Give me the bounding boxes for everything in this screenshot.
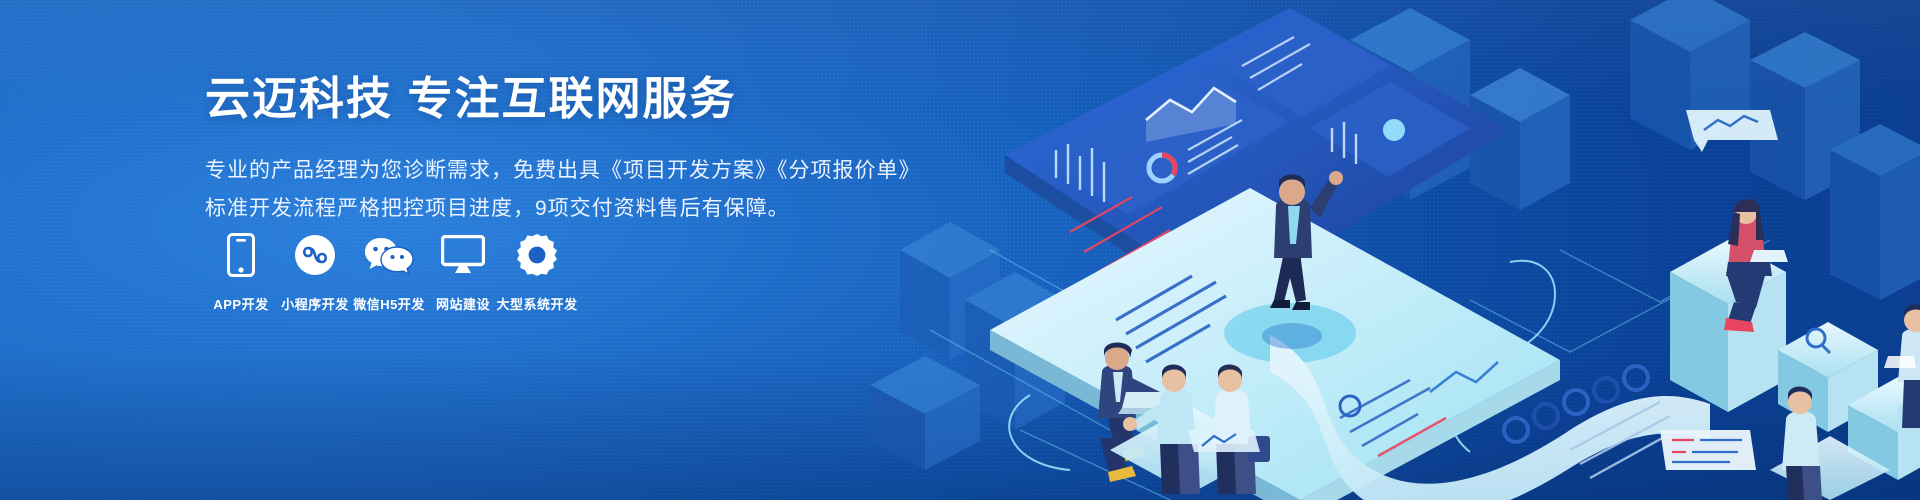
subtitle-line-1: 专业的产品经理为您诊断需求，免费出具《项目开发方案》《分项报价单》 xyxy=(205,152,925,190)
service-item-large-system[interactable]: 大型系统开发 xyxy=(501,232,573,313)
service-label: 网站建设 xyxy=(436,294,490,313)
service-label: 小程序开发 xyxy=(281,294,349,313)
hero-banner: 云迈科技 专注互联网服务 专业的产品经理为您诊断需求，免费出具《项目开发方案》《… xyxy=(0,0,1920,500)
service-label: 大型系统开发 xyxy=(497,294,578,313)
gear-icon xyxy=(516,232,558,278)
service-item-website[interactable]: 网站建设 xyxy=(427,232,499,313)
service-label: APP开发 xyxy=(213,294,268,313)
code-card xyxy=(1660,430,1756,470)
monitor-icon xyxy=(441,232,485,278)
service-item-miniprogram[interactable]: 小程序开发 xyxy=(279,232,351,313)
subtitle-line-2: 标准开发流程严格把控项目进度，9项交付资料售后有保障。 xyxy=(205,190,925,228)
mobile-phone-icon xyxy=(227,232,255,278)
mini-program-icon xyxy=(294,232,336,278)
wechat-icon xyxy=(364,232,414,278)
seated-woman-laptop xyxy=(1670,199,1788,412)
service-list: APP开发 小程序开发 xyxy=(205,232,575,313)
page-title: 云迈科技 专注互联网服务 xyxy=(205,72,925,126)
service-item-app[interactable]: APP开发 xyxy=(205,232,277,313)
hero-copy: 云迈科技 专注互联网服务 专业的产品经理为您诊断需求，免费出具《项目开发方案》《… xyxy=(205,72,925,228)
service-item-wechat-h5[interactable]: 微信H5开发 xyxy=(353,232,425,313)
hero-illustration xyxy=(870,0,1920,500)
service-label: 微信H5开发 xyxy=(353,294,425,313)
chat-bubble-secondary xyxy=(1188,430,1260,452)
